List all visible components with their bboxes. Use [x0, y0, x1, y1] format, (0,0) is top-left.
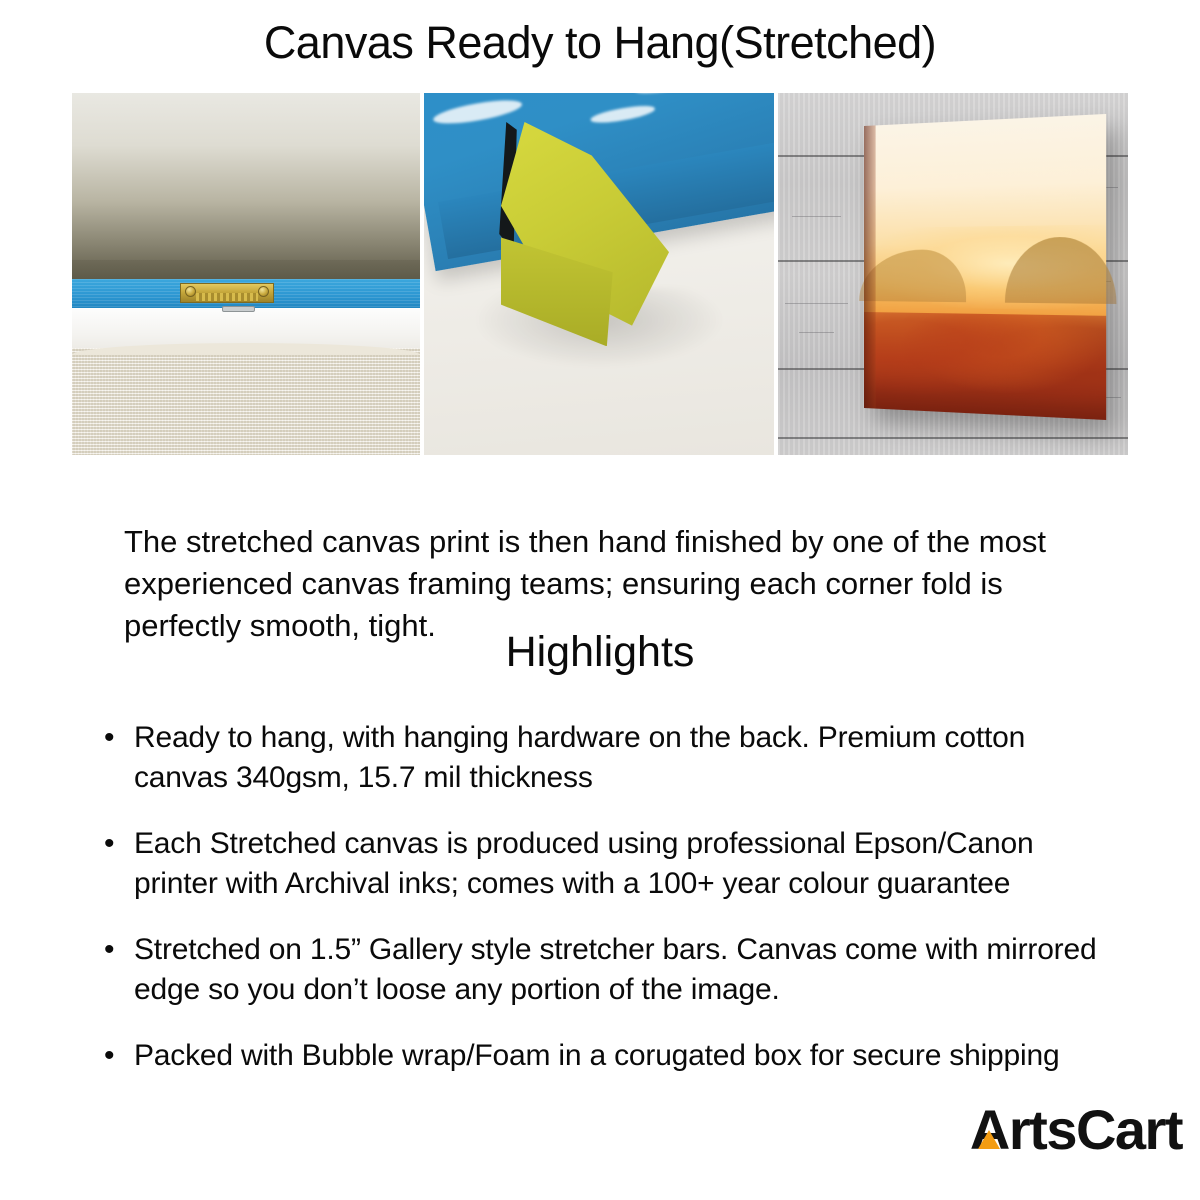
- hanger-teeth: [196, 293, 259, 301]
- corner-fold-photo: [424, 93, 774, 455]
- photo2-cloud-wisp: [589, 103, 655, 125]
- orange-triangle-icon: [978, 1130, 1000, 1149]
- highlights-list: • Ready to hang, with hanging hardware o…: [104, 718, 1114, 1102]
- brand-logo: A rtsCart: [970, 1102, 1182, 1158]
- list-item-text: Stretched on 1.5” Gallery style stretche…: [134, 930, 1114, 1010]
- photo3-gallery-wrapped-canvas: [864, 114, 1106, 420]
- photo2-cloud-wisp: [432, 96, 523, 128]
- bullet-marker-icon: •: [104, 824, 134, 864]
- product-photo-strip: [72, 93, 1128, 455]
- photo3-wood-grain: [785, 303, 848, 304]
- photo3-plank-seam: [778, 437, 1128, 439]
- photo3-wood-grain: [792, 216, 841, 217]
- photo2-cloud-wisp: [633, 93, 707, 96]
- canvas-back-hanger-photo: [72, 93, 420, 455]
- photo1-hook-clip: [222, 306, 255, 312]
- hanger-screw-left: [185, 286, 196, 297]
- bullet-marker-icon: •: [104, 930, 134, 970]
- list-item: • Each Stretched canvas is produced usin…: [104, 824, 1114, 904]
- bullet-marker-icon: •: [104, 1036, 134, 1076]
- hanger-screw-right: [258, 286, 269, 297]
- hung-canvas-photo: [778, 93, 1128, 455]
- list-item-text: Packed with Bubble wrap/Foam in a coruga…: [134, 1036, 1114, 1076]
- list-item: • Packed with Bubble wrap/Foam in a coru…: [104, 1036, 1114, 1076]
- bullet-marker-icon: •: [104, 718, 134, 758]
- logo-letter-a: A: [970, 1102, 1009, 1158]
- list-item-text: Ready to hang, with hanging hardware on …: [134, 718, 1114, 798]
- sawtooth-hanger-icon: [180, 283, 274, 303]
- logo-wordmark-rest: rtsCart: [1009, 1102, 1182, 1158]
- list-item-text: Each Stretched canvas is produced using …: [134, 824, 1114, 904]
- page-title: Canvas Ready to Hang(Stretched): [0, 18, 1200, 68]
- list-item: • Stretched on 1.5” Gallery style stretc…: [104, 930, 1114, 1010]
- photo2-cloud-wisp: [525, 93, 633, 96]
- photo3-canvas-side-edge: [864, 125, 875, 408]
- photo1-background-upper: [72, 93, 420, 267]
- photo3-foreground-landscape: [864, 312, 1106, 420]
- photo1-background-shadow: [72, 260, 420, 282]
- photo1-raw-canvas-back: [72, 348, 420, 455]
- highlights-heading: Highlights: [0, 628, 1200, 677]
- photo3-wood-grain: [799, 332, 834, 333]
- list-item: • Ready to hang, with hanging hardware o…: [104, 718, 1114, 798]
